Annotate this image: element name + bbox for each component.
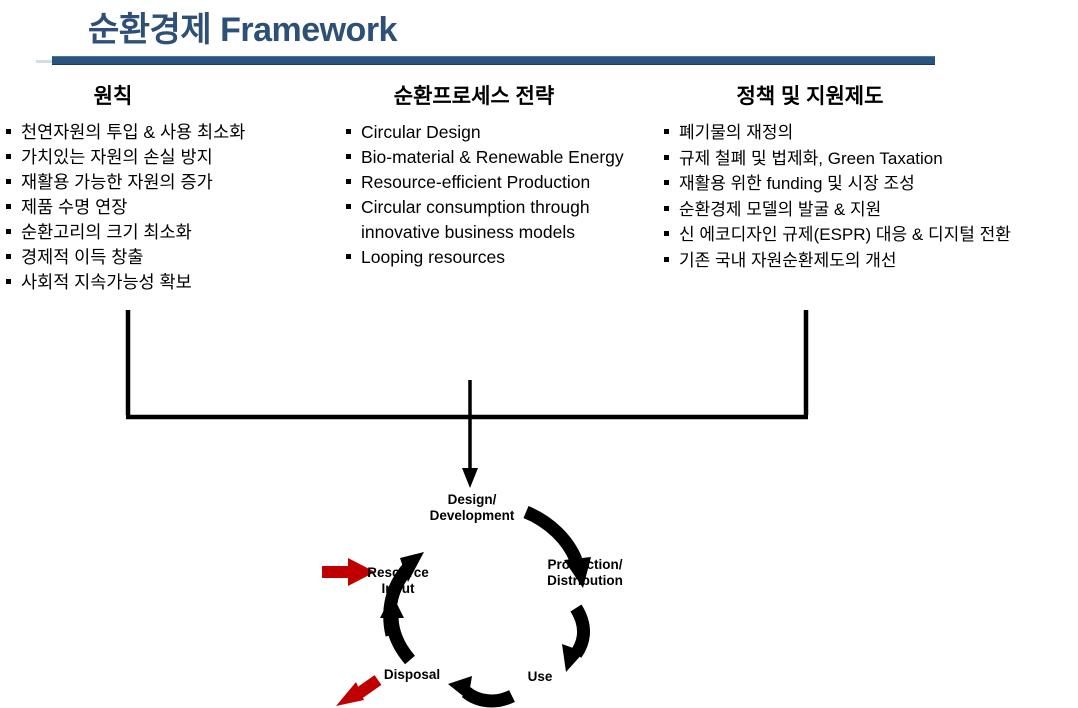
page-title: 순환경제 Framework	[88, 2, 397, 51]
list-item: 신 에코디자인 규제(ESPR) 대응 & 디지털 전환	[662, 222, 1078, 248]
cycle-node-label: Production/	[548, 557, 623, 572]
disposal-red-arrow-icon	[336, 680, 378, 706]
square-bullet-icon	[6, 279, 11, 284]
square-bullet-icon	[6, 254, 11, 259]
cycle-node-label: Design/	[448, 492, 497, 507]
square-bullet-icon	[664, 155, 669, 160]
list-item: Looping resources	[344, 245, 662, 270]
list-item: 제품 수명 연장	[4, 195, 334, 220]
square-bullet-icon	[346, 154, 351, 159]
list-item-label: Bio-material & Renewable Energy	[361, 145, 662, 170]
list-item-label: Resource-efficient Production	[361, 170, 662, 195]
arrow-use-to-disposal-icon	[448, 676, 512, 701]
cycle-node-label: Distribution	[547, 573, 623, 588]
list-item-label: Circular consumption through innovative …	[361, 195, 662, 245]
square-bullet-icon	[664, 129, 669, 134]
square-bullet-icon	[664, 231, 669, 236]
cycle-node-label: Development	[430, 508, 515, 523]
list-item-label: 신 에코디자인 규제(ESPR) 대응 & 디지털 전환	[679, 222, 1078, 248]
list-item: 기존 국내 자원순환제도의 개선	[662, 248, 1078, 274]
circular-economy-cycle-diagram: Design/ Development Production/ Distribu…	[300, 460, 700, 708]
square-bullet-icon	[6, 229, 11, 234]
square-bullet-icon	[346, 179, 351, 184]
list-item: 천연자원의 투입 & 사용 최소화	[4, 120, 334, 145]
list-item: 재활용 가능한 자원의 증가	[4, 170, 334, 195]
column-heading-principles: 원칙	[4, 80, 222, 110]
list-item-label: 순환경제 모델의 발굴 & 지원	[679, 197, 1078, 223]
list-item-label: 제품 수명 연장	[21, 195, 334, 220]
list-item-label: 경제적 이득 창출	[21, 245, 334, 270]
cycle-node-label: Disposal	[384, 667, 440, 682]
bullet-list-policy-and-support: 폐기물의 재정의 규제 철폐 및 법제화, Green Taxation 재활용…	[662, 120, 1078, 273]
cycle-node-resource-input: Resource Input	[367, 565, 429, 596]
list-item-label: Looping resources	[361, 245, 662, 270]
column-policy-and-support: 정책 및 지원제도 폐기물의 재정의 규제 철폐 및 법제화, Green Ta…	[662, 80, 1078, 273]
list-item: 순환고리의 크기 최소화	[4, 220, 334, 245]
list-item: 순환경제 모델의 발굴 & 지원	[662, 197, 1078, 223]
bullet-list-principles: 천연자원의 투입 & 사용 최소화 가치있는 자원의 손실 방지 재활용 가능한…	[4, 120, 334, 295]
column-principles: 원칙 천연자원의 투입 & 사용 최소화 가치있는 자원의 손실 방지 재활용 …	[4, 80, 334, 295]
slide-canvas: 순환경제 Framework 원칙 천연자원의 투입 & 사용 최소화 가치있는…	[0, 0, 1078, 708]
cycle-node-design-development: Design/ Development	[430, 492, 515, 523]
cycle-node-production-distribution: Production/ Distribution	[547, 557, 623, 588]
square-bullet-icon	[6, 129, 11, 134]
column-circular-process-strategy: 순환프로세스 전략 Circular Design Bio-material &…	[332, 80, 662, 270]
square-bullet-icon	[6, 154, 11, 159]
bullet-list-circular-process-strategy: Circular Design Bio-material & Renewable…	[344, 120, 662, 270]
list-item-label: Circular Design	[361, 120, 662, 145]
list-item-label: 사회적 지속가능성 확보	[21, 270, 334, 295]
square-bullet-icon	[346, 129, 351, 134]
list-item-label: 기존 국내 자원순환제도의 개선	[679, 248, 1078, 274]
list-item-label: 재활용 가능한 자원의 증가	[21, 170, 334, 195]
column-heading-policy-and-support: 정책 및 지원제도	[662, 80, 958, 110]
list-item: 가치있는 자원의 손실 방지	[4, 145, 334, 170]
square-bullet-icon	[346, 254, 351, 259]
square-bullet-icon	[664, 257, 669, 262]
square-bullet-icon	[346, 204, 351, 209]
column-heading-circular-process-strategy: 순환프로세스 전략	[332, 80, 616, 110]
list-item: 재활용 위한 funding 및 시장 조성	[662, 171, 1078, 197]
list-item: 폐기물의 재정의	[662, 120, 1078, 146]
title-rule	[52, 56, 935, 65]
square-bullet-icon	[6, 204, 11, 209]
list-item-label: 폐기물의 재정의	[679, 120, 1078, 146]
list-item-label: 재활용 위한 funding 및 시장 조성	[679, 171, 1078, 197]
list-item: 규제 철폐 및 법제화, Green Taxation	[662, 146, 1078, 172]
arrow-production-to-use-icon	[562, 608, 584, 672]
cycle-node-use: Use	[528, 669, 553, 684]
square-bullet-icon	[664, 206, 669, 211]
cycle-node-label: Use	[528, 669, 553, 684]
cycle-node-label: Resource	[367, 565, 429, 580]
square-bullet-icon	[664, 180, 669, 185]
list-item-label: 순환고리의 크기 최소화	[21, 220, 334, 245]
list-item-label: 천연자원의 투입 & 사용 최소화	[21, 120, 334, 145]
list-item-label: 규제 철폐 및 법제화, Green Taxation	[679, 146, 1078, 172]
list-item: 사회적 지속가능성 확보	[4, 270, 334, 295]
list-item: Circular Design	[344, 120, 662, 145]
list-item: 경제적 이득 창출	[4, 245, 334, 270]
cycle-node-disposal: Disposal	[384, 667, 440, 682]
list-item: Circular consumption through innovative …	[344, 195, 662, 245]
cycle-node-label: Input	[382, 581, 415, 596]
list-item-label: 가치있는 자원의 손실 방지	[21, 145, 334, 170]
square-bullet-icon	[6, 179, 11, 184]
list-item: Bio-material & Renewable Energy	[344, 145, 662, 170]
list-item: Resource-efficient Production	[344, 170, 662, 195]
